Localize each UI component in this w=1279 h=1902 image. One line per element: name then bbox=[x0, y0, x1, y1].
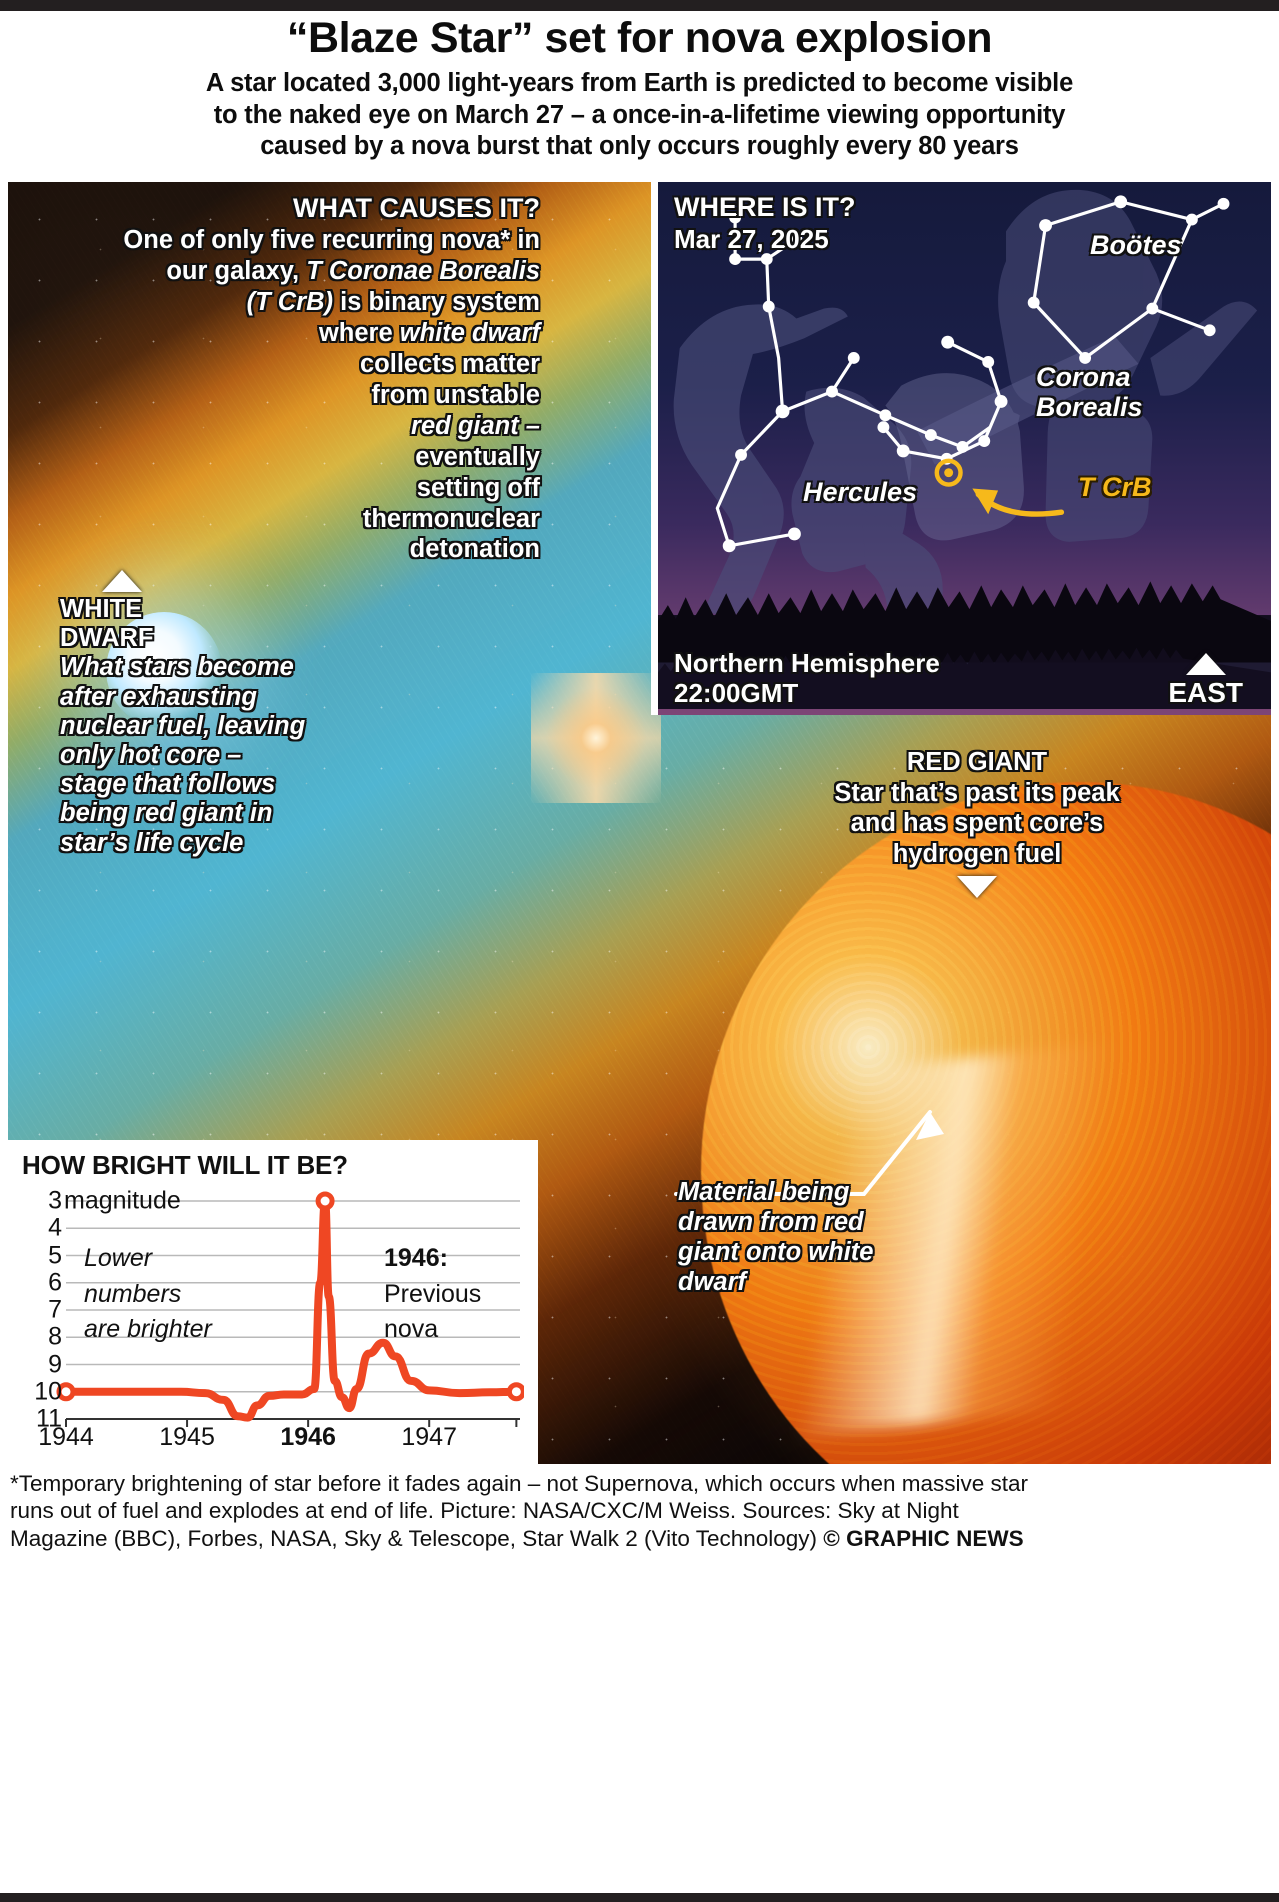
sky-map-graphic bbox=[658, 182, 1271, 709]
causes-line-6: from unstable bbox=[18, 380, 540, 411]
chart-plot: 34567891011 magnitude Lowernumbersare br… bbox=[22, 1183, 524, 1451]
chart-annotation-line: are brighter bbox=[84, 1312, 212, 1348]
top-rule bbox=[0, 0, 1279, 11]
credit: © GRAPHIC NEWS bbox=[823, 1526, 1023, 1551]
constellation-label-hercules: Hercules bbox=[803, 477, 917, 507]
causes-line-2: our galaxy, T Coronae Borealis bbox=[18, 256, 540, 287]
white-dwarf-body: What stars become after exhausting nucle… bbox=[60, 653, 310, 857]
causes-line-11: detonation bbox=[18, 534, 540, 565]
sky-map-heading: WHERE IS IT? bbox=[674, 192, 856, 224]
red-giant-line-2: and has spent core’s bbox=[688, 808, 1266, 839]
red-giant-callout: RED GIANT Star that’s past its peak and … bbox=[688, 747, 1266, 898]
chart-annotation-line: numbers bbox=[84, 1277, 212, 1313]
sky-map-footer: Northern Hemisphere 22:00GMT bbox=[674, 649, 940, 709]
white-dwarf-label-2: DWARF bbox=[60, 624, 310, 653]
subtitle-line-3: caused by a nova burst that only occurs … bbox=[22, 131, 1257, 162]
chart-y-tick-label: 6 bbox=[48, 1268, 62, 1297]
causes-line-5: collects matter bbox=[18, 349, 540, 380]
chart-y-tick-label: 10 bbox=[34, 1377, 62, 1406]
chart-y-tick-label: 8 bbox=[48, 1323, 62, 1352]
material-callout: Material being drawn from red giant onto… bbox=[678, 1177, 918, 1297]
chart-x-tick-label: 1944 bbox=[38, 1423, 94, 1452]
hemisphere-label: Northern Hemisphere bbox=[674, 649, 940, 679]
chart-x-axis: 1944194519461947 bbox=[22, 1423, 524, 1453]
sky-map-date: Mar 27, 2025 bbox=[674, 224, 856, 255]
what-causes-it-block: WHAT CAUSES IT? One of only five recurri… bbox=[18, 192, 540, 565]
chart-y-tick-label: 7 bbox=[48, 1296, 62, 1325]
causes-line-4: where white dwarf bbox=[18, 318, 540, 349]
chart-y-tick-label: 4 bbox=[48, 1214, 62, 1243]
chart-y-tick-label: 3 bbox=[48, 1187, 62, 1216]
chart-y-tick-label: 5 bbox=[48, 1241, 62, 1270]
causes-line-3: (T CrB) is binary system bbox=[18, 287, 540, 318]
chart-annotation-event: 1946:Previousnova bbox=[384, 1241, 481, 1348]
causes-line-9: setting off bbox=[18, 473, 540, 504]
causes-line-1: One of only five recurring nova* in bbox=[18, 225, 540, 256]
page-title: “Blaze Star” set for nova explosion bbox=[22, 15, 1257, 61]
illustration-stage: WHAT CAUSES IT? One of only five recurri… bbox=[8, 182, 1271, 1464]
header: “Blaze Star” set for nova explosion A st… bbox=[0, 11, 1279, 169]
t-crb-label: T CrB bbox=[1078, 472, 1152, 503]
chart-annotation-line: nova bbox=[384, 1312, 481, 1348]
up-triangle-icon bbox=[1186, 653, 1226, 675]
lens-flare bbox=[531, 673, 661, 803]
red-giant-line-3: hydrogen fuel bbox=[688, 839, 1266, 870]
red-giant-label: RED GIANT bbox=[688, 747, 1266, 778]
sky-map-panel: WHERE IS IT? Mar 27, 2025 Boötes Corona … bbox=[651, 182, 1271, 715]
footer-line-2: runs out of fuel and explodes at end of … bbox=[10, 1497, 1269, 1524]
up-triangle-icon bbox=[102, 570, 142, 592]
chart-annotation-year: 1946: bbox=[384, 1241, 481, 1277]
page-subtitle: A star located 3,000 light-years from Ea… bbox=[22, 68, 1257, 162]
constellation-label-corona-borealis: Corona Borealis bbox=[1036, 362, 1143, 422]
bottom-rule bbox=[0, 1893, 1279, 1902]
red-giant-line-1: Star that’s past its peak bbox=[688, 778, 1266, 809]
time-label: 22:00GMT bbox=[674, 679, 940, 709]
chart-x-tick-label: 1946 bbox=[280, 1423, 336, 1452]
white-dwarf-callout: WHITE DWARF What stars become after exha… bbox=[60, 570, 310, 858]
sky-map-header: WHERE IS IT? Mar 27, 2025 bbox=[674, 192, 856, 255]
chart-title: HOW BRIGHT WILL IT BE? bbox=[22, 1150, 524, 1181]
chart-marker bbox=[318, 1194, 332, 1208]
down-triangle-icon bbox=[957, 876, 997, 898]
direction-indicator: EAST bbox=[1168, 653, 1243, 709]
chart-y-tick-label: 9 bbox=[48, 1350, 62, 1379]
subtitle-line-1: A star located 3,000 light-years from Ea… bbox=[22, 68, 1257, 99]
subtitle-line-2: to the naked eye on March 27 – a once-in… bbox=[22, 100, 1257, 131]
causes-line-8: eventually bbox=[18, 442, 540, 473]
footer-line-1: *Temporary brightening of star before it… bbox=[10, 1470, 1269, 1497]
chart-marker bbox=[509, 1385, 523, 1399]
what-causes-it-heading: WHAT CAUSES IT? bbox=[18, 192, 540, 225]
constellation-label-bootes: Boötes bbox=[1090, 230, 1182, 260]
causes-line-7: red giant – bbox=[18, 411, 540, 442]
footer-line-3: Magazine (BBC), Forbes, NASA, Sky & Tele… bbox=[10, 1525, 1269, 1552]
direction-label: EAST bbox=[1168, 677, 1243, 709]
brightness-chart-panel: HOW BRIGHT WILL IT BE? 34567891011 magni… bbox=[8, 1140, 538, 1464]
white-dwarf-label-1: WHITE bbox=[60, 595, 310, 624]
chart-annotation-lower: Lowernumbersare brighter bbox=[84, 1241, 212, 1348]
chart-annotation-line: Previous bbox=[384, 1277, 481, 1313]
chart-annotation-line: Lower bbox=[84, 1241, 212, 1277]
chart-x-tick-label: 1947 bbox=[401, 1423, 457, 1452]
source-footer: *Temporary brightening of star before it… bbox=[10, 1470, 1269, 1552]
chart-y-axis-unit: magnitude bbox=[64, 1187, 181, 1216]
causes-line-10: thermonuclear bbox=[18, 504, 540, 535]
chart-x-tick-label: 1945 bbox=[159, 1423, 215, 1452]
